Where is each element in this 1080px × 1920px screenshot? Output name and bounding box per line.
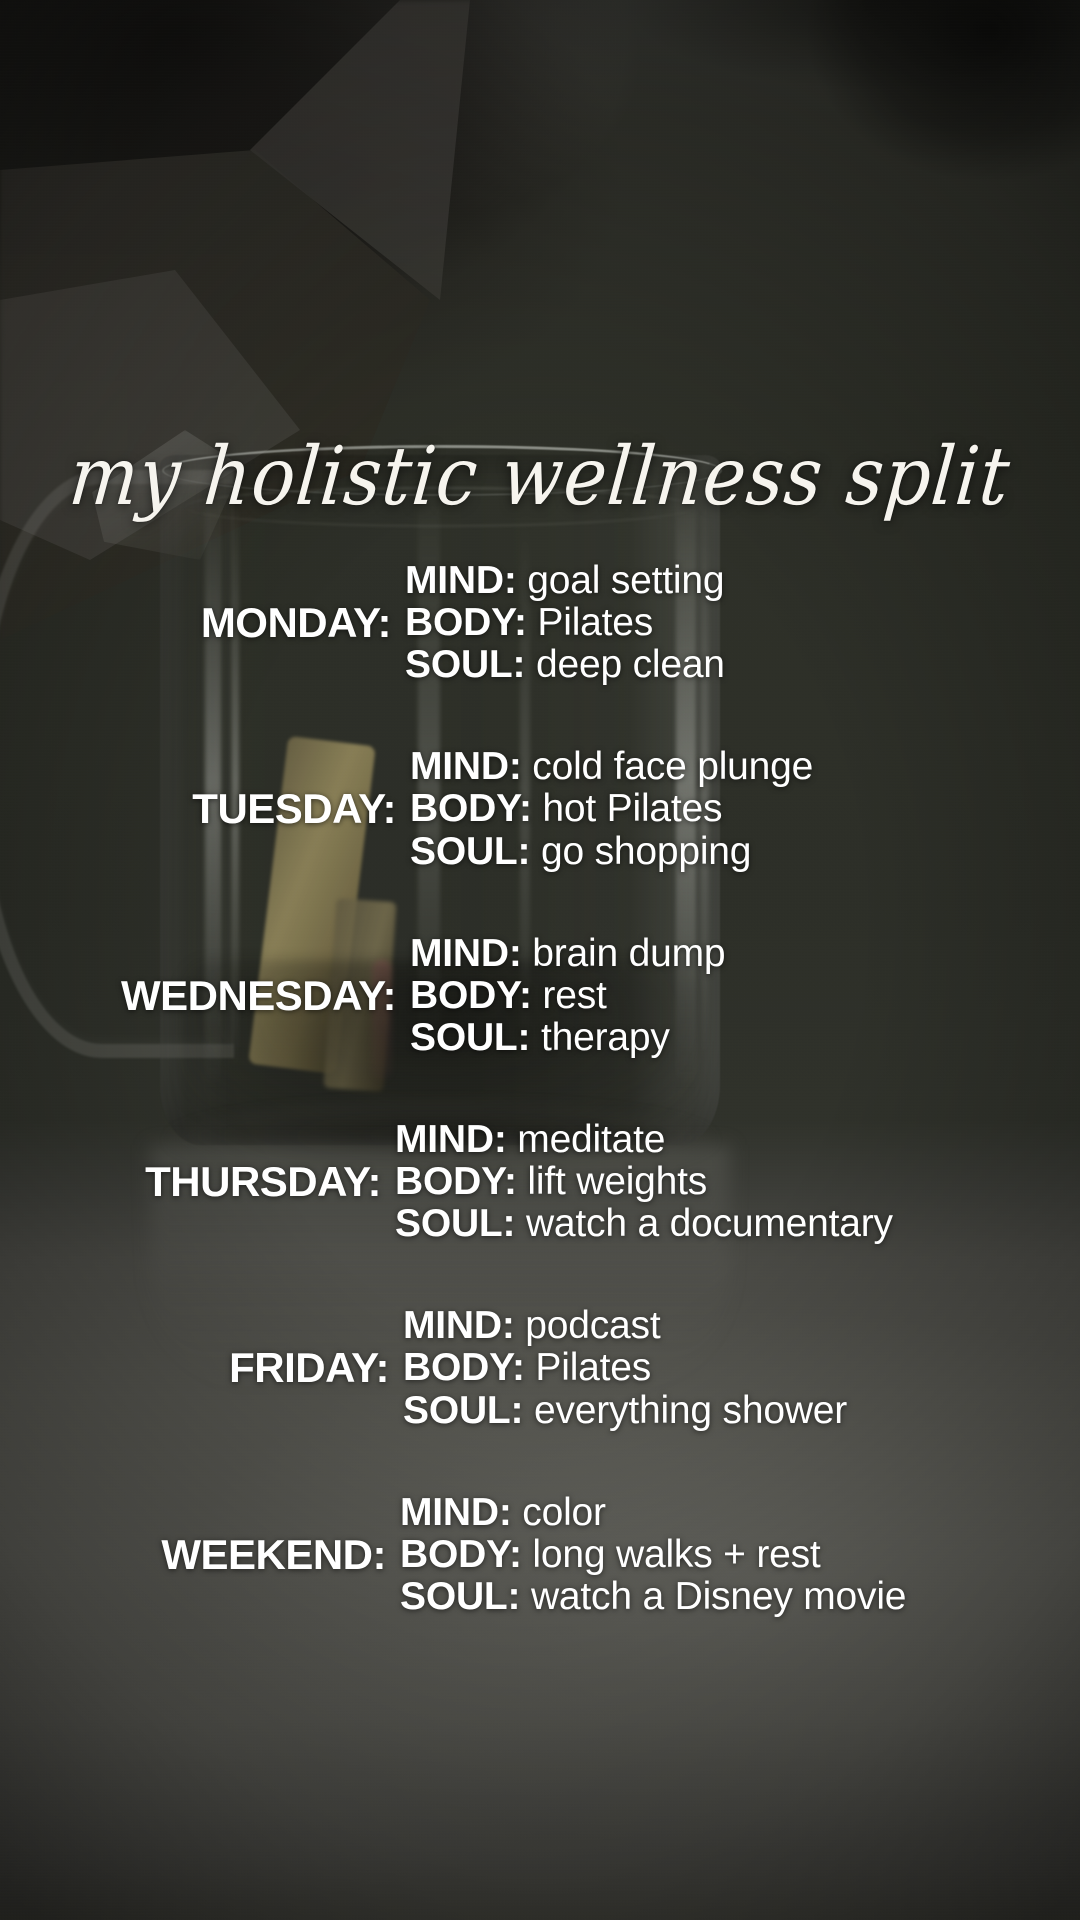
- day-label-tuesday: TUESDAY:: [0, 785, 410, 833]
- day-items-weekend: MIND: colorBODY: long walks + restSOUL: …: [400, 1492, 906, 1618]
- item-value: therapy: [541, 1016, 670, 1059]
- schedule-item: SOUL: watch a documentary: [395, 1203, 893, 1245]
- item-category: SOUL:: [410, 1016, 530, 1059]
- page-title: my holistic wellness split: [0, 436, 1080, 517]
- item-value: go shopping: [541, 830, 751, 873]
- item-value: long walks + rest: [532, 1533, 820, 1576]
- day-label-thursday: THURSDAY:: [0, 1158, 395, 1206]
- item-value: hot Pilates: [542, 787, 722, 830]
- item-category: BODY:: [395, 1160, 517, 1203]
- schedule-row: MONDAY:MIND: goal settingBODY: PilatesSO…: [0, 560, 1080, 686]
- item-value: podcast: [525, 1304, 660, 1347]
- item-value: cold face plunge: [532, 745, 813, 788]
- item-category: SOUL:: [403, 1389, 523, 1432]
- item-value: rest: [542, 974, 606, 1017]
- item-value: Pilates: [537, 601, 653, 644]
- schedule-item: BODY: long walks + rest: [400, 1534, 906, 1576]
- item-category: SOUL:: [410, 830, 530, 873]
- schedule-item: SOUL: therapy: [410, 1017, 725, 1059]
- text-overlay: my holistic wellness split MONDAY:MIND: …: [0, 0, 1080, 1920]
- day-items-wednesday: MIND: brain dumpBODY: restSOUL: therapy: [410, 933, 725, 1059]
- item-category: MIND:: [410, 745, 522, 788]
- schedule-row: FRIDAY:MIND: podcastBODY: PilatesSOUL: e…: [0, 1305, 1080, 1431]
- schedule-item: SOUL: go shopping: [410, 831, 813, 873]
- item-category: MIND:: [405, 559, 517, 602]
- item-value: watch a documentary: [526, 1202, 893, 1245]
- item-category: SOUL:: [400, 1575, 520, 1618]
- wellness-split-poster: my holistic wellness split MONDAY:MIND: …: [0, 0, 1080, 1920]
- schedule-item: MIND: meditate: [395, 1119, 893, 1161]
- item-category: MIND:: [395, 1118, 507, 1161]
- item-value: goal setting: [527, 559, 724, 602]
- schedule-item: MIND: goal setting: [405, 560, 725, 602]
- schedule-item: BODY: hot Pilates: [410, 788, 813, 830]
- schedule-item: BODY: Pilates: [405, 602, 725, 644]
- day-label-weekend: WEEKEND:: [0, 1531, 400, 1579]
- schedule-item: MIND: cold face plunge: [410, 746, 813, 788]
- schedule-item: BODY: Pilates: [403, 1347, 847, 1389]
- schedule-row: WEEKEND:MIND: colorBODY: long walks + re…: [0, 1492, 1080, 1618]
- item-value: brain dump: [532, 932, 725, 975]
- item-category: BODY:: [410, 787, 532, 830]
- item-category: BODY:: [410, 974, 532, 1017]
- schedule-row: WEDNESDAY:MIND: brain dumpBODY: restSOUL…: [0, 933, 1080, 1059]
- schedule-item: SOUL: everything shower: [403, 1390, 847, 1432]
- item-value: deep clean: [536, 643, 725, 686]
- day-label-wednesday: WEDNESDAY:: [0, 972, 410, 1020]
- item-value: lift weights: [527, 1160, 707, 1203]
- day-label-friday: FRIDAY:: [0, 1344, 403, 1392]
- item-category: MIND:: [400, 1491, 512, 1534]
- schedule-item: BODY: lift weights: [395, 1161, 893, 1203]
- item-category: MIND:: [403, 1304, 515, 1347]
- item-category: BODY:: [403, 1346, 525, 1389]
- schedule-item: MIND: brain dump: [410, 933, 725, 975]
- weekly-schedule-list: MONDAY:MIND: goal settingBODY: PilatesSO…: [0, 560, 1080, 1678]
- day-items-friday: MIND: podcastBODY: PilatesSOUL: everythi…: [403, 1305, 847, 1431]
- item-value: meditate: [517, 1118, 665, 1161]
- day-items-tuesday: MIND: cold face plungeBODY: hot PilatesS…: [410, 746, 813, 872]
- item-value: watch a Disney movie: [531, 1575, 906, 1618]
- item-category: BODY:: [405, 601, 527, 644]
- item-value: color: [522, 1491, 606, 1534]
- item-category: SOUL:: [395, 1202, 515, 1245]
- schedule-item: SOUL: watch a Disney movie: [400, 1576, 906, 1618]
- item-category: MIND:: [410, 932, 522, 975]
- schedule-row: THURSDAY:MIND: meditateBODY: lift weight…: [0, 1119, 1080, 1245]
- schedule-row: TUESDAY:MIND: cold face plungeBODY: hot …: [0, 746, 1080, 872]
- schedule-item: MIND: podcast: [403, 1305, 847, 1347]
- day-items-monday: MIND: goal settingBODY: PilatesSOUL: dee…: [405, 560, 725, 686]
- schedule-item: SOUL: deep clean: [405, 644, 725, 686]
- item-value: Pilates: [535, 1346, 651, 1389]
- item-value: everything shower: [534, 1389, 847, 1432]
- day-label-monday: MONDAY:: [0, 599, 405, 647]
- day-items-thursday: MIND: meditateBODY: lift weightsSOUL: wa…: [395, 1119, 893, 1245]
- schedule-item: BODY: rest: [410, 975, 725, 1017]
- item-category: BODY:: [400, 1533, 522, 1576]
- item-category: SOUL:: [405, 643, 525, 686]
- schedule-item: MIND: color: [400, 1492, 906, 1534]
